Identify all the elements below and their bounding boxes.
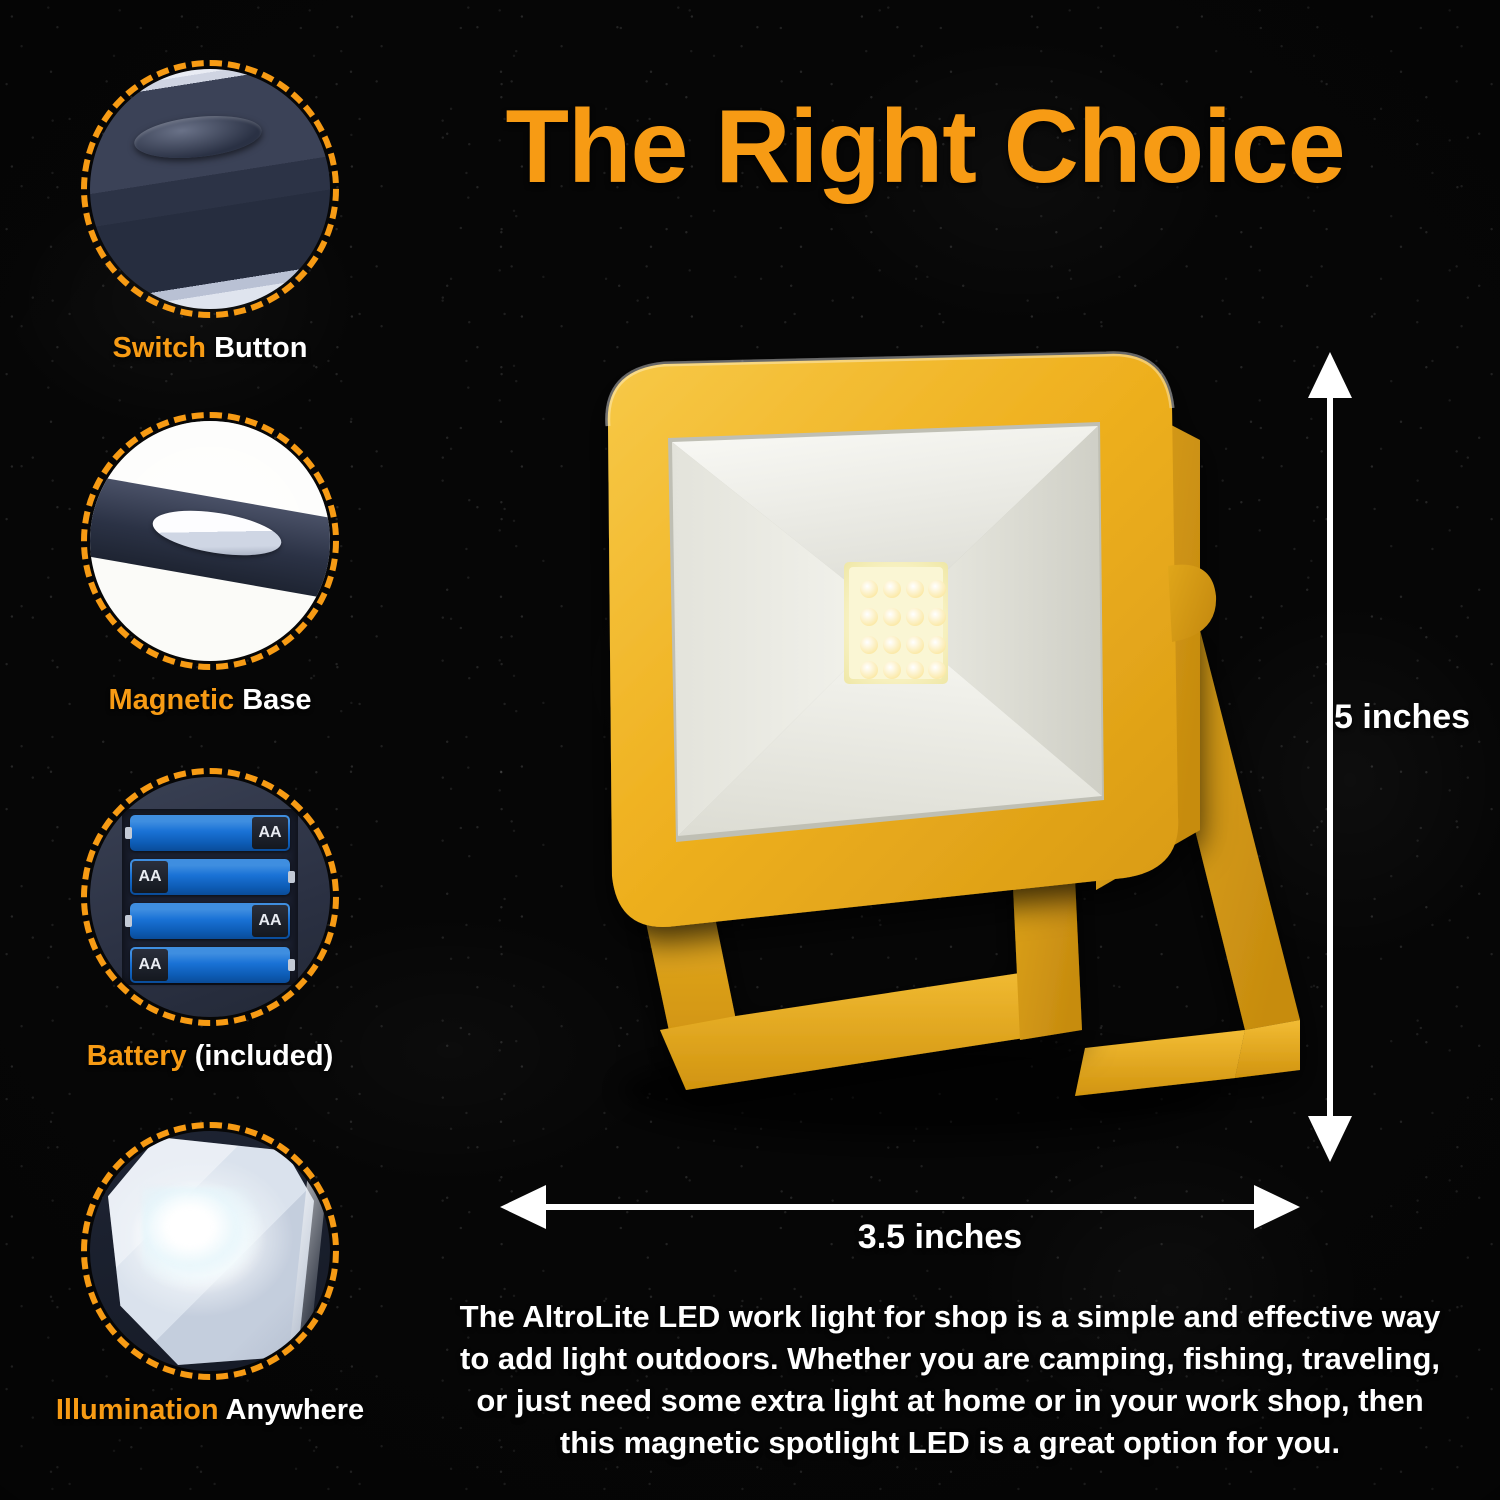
- feature-label-highlight: Magnetic: [108, 684, 234, 716]
- feature-magnetic-base: Magnetic Base: [0, 412, 420, 717]
- feature-circle-magnetic-base: [81, 412, 339, 670]
- feature-battery-included: AA AA AA AA Battery (included): [0, 768, 420, 1073]
- feature-switch-button: Switch Button: [0, 60, 420, 365]
- feature-circle-illumination: [81, 1122, 339, 1380]
- product-image-led-work-light: [500, 330, 1340, 1170]
- feature-label-rest: Anywhere: [226, 1394, 365, 1426]
- feature-label-highlight: Battery: [87, 1040, 187, 1072]
- feature-label-illumination: Illumination Anywhere: [0, 1394, 420, 1427]
- dashed-ring-4: [81, 1122, 339, 1380]
- dashed-ring-3: [81, 768, 339, 1026]
- feature-label-rest: (included): [195, 1040, 334, 1072]
- feature-label-magnetic-base: Magnetic Base: [0, 684, 420, 717]
- feature-illumination-anywhere: Illumination Anywhere: [0, 1122, 420, 1427]
- dimension-label-height: 5 inches: [1334, 698, 1470, 737]
- product-description: The AltroLite LED work light for shop is…: [450, 1296, 1450, 1465]
- feature-label-switch-button: Switch Button: [0, 332, 420, 365]
- dashed-ring-1: [81, 60, 339, 318]
- dimension-label-width: 3.5 inches: [760, 1218, 1120, 1257]
- feature-label-highlight: Switch: [113, 332, 206, 364]
- feature-label-rest: Base: [242, 684, 311, 716]
- feature-circle-switch-button: [81, 60, 339, 318]
- feature-label-highlight: Illumination: [56, 1394, 219, 1426]
- feature-circle-battery: AA AA AA AA: [81, 768, 339, 1026]
- page-title: The Right Choice: [420, 95, 1430, 199]
- dashed-ring-2: [81, 412, 339, 670]
- led-panel: [844, 562, 948, 684]
- feature-label-battery: Battery (included): [0, 1040, 420, 1073]
- dimension-arrow-vertical: [1308, 352, 1352, 1162]
- feature-label-rest: Button: [214, 332, 307, 364]
